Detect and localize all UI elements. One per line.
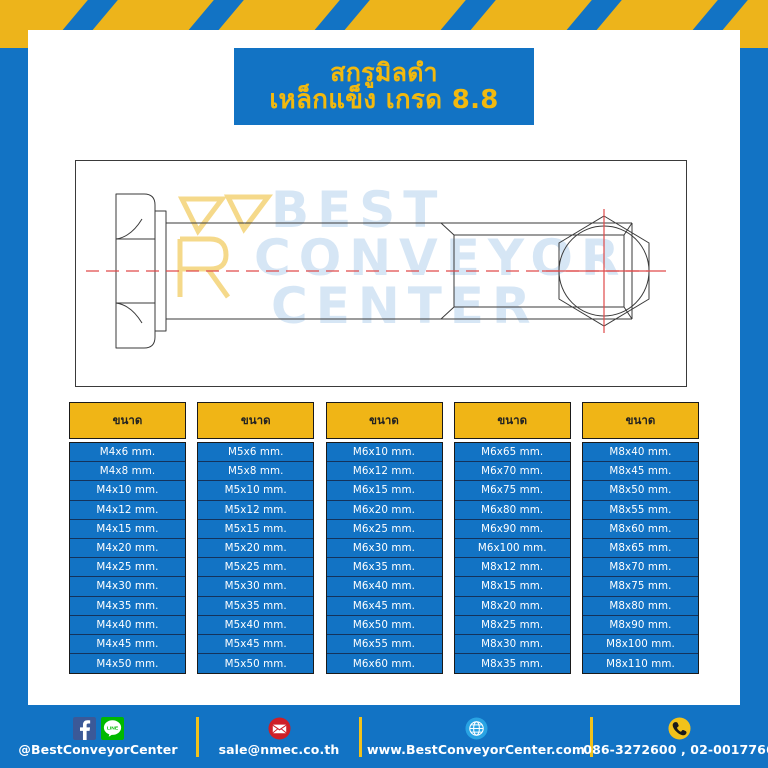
table-row[interactable]: M5x35 mm. — [198, 597, 313, 616]
footer-contact-bar: LINE @BestConveyorCenter sale@nmec.co.th — [0, 705, 768, 768]
table-row[interactable]: M5x50 mm. — [198, 654, 313, 673]
table-row[interactable]: M6x15 mm. — [327, 481, 442, 500]
table-row[interactable]: M8x45 mm. — [583, 462, 698, 481]
table-row[interactable]: M5x8 mm. — [198, 462, 313, 481]
column-body-3: M6x10 mm. M6x12 mm. M6x15 mm. M6x20 mm. … — [326, 442, 443, 674]
table-row[interactable]: M8x65 mm. — [583, 539, 698, 558]
table-row[interactable]: M8x75 mm. — [583, 577, 698, 596]
globe-icon-wrap — [465, 716, 488, 740]
phone-label: 086-3272600 , 02-0017766 — [583, 742, 768, 757]
email-label: sale@nmec.co.th — [219, 742, 340, 757]
table-row[interactable]: M4x15 mm. — [70, 520, 185, 539]
table-row[interactable]: M6x45 mm. — [327, 597, 442, 616]
table-row[interactable]: M5x45 mm. — [198, 635, 313, 654]
footer-social[interactable]: LINE @BestConveyorCenter — [0, 705, 196, 768]
table-row[interactable]: M6x90 mm. — [455, 520, 570, 539]
svg-text:LINE: LINE — [106, 725, 118, 731]
table-row[interactable]: M8x100 mm. — [583, 635, 698, 654]
table-row[interactable]: M6x75 mm. — [455, 481, 570, 500]
table-row[interactable]: M8x60 mm. — [583, 520, 698, 539]
facebook-icon[interactable] — [73, 717, 96, 740]
size-tables: ขนาด M4x6 mm. M4x8 mm. M4x10 mm. M4x12 m… — [69, 402, 699, 688]
table-row[interactable]: M6x100 mm. — [455, 539, 570, 558]
column-body-4: M6x65 mm. M6x70 mm. M6x75 mm. M6x80 mm. … — [454, 442, 571, 674]
column-header-1: ขนาด — [69, 402, 186, 439]
table-row[interactable]: M6x35 mm. — [327, 558, 442, 577]
table-row[interactable]: M4x25 mm. — [70, 558, 185, 577]
page-title-line1: สกรูมิลดำ — [330, 59, 438, 86]
table-row[interactable]: M6x65 mm. — [455, 443, 570, 462]
table-row[interactable]: M8x70 mm. — [583, 558, 698, 577]
social-label: @BestConveyorCenter — [18, 742, 177, 757]
globe-icon[interactable] — [465, 717, 488, 740]
table-row[interactable]: M8x30 mm. — [455, 635, 570, 654]
table-row[interactable]: M4x20 mm. — [70, 539, 185, 558]
size-column-1: ขนาด M4x6 mm. M4x8 mm. M4x10 mm. M4x12 m… — [69, 402, 186, 688]
table-row[interactable]: M6x20 mm. — [327, 501, 442, 520]
footer-email[interactable]: sale@nmec.co.th — [199, 705, 359, 768]
table-row[interactable]: M5x10 mm. — [198, 481, 313, 500]
table-row[interactable]: M6x25 mm. — [327, 520, 442, 539]
table-row[interactable]: M5x20 mm. — [198, 539, 313, 558]
phone-icon[interactable] — [668, 717, 691, 740]
table-row[interactable]: M6x70 mm. — [455, 462, 570, 481]
table-row[interactable]: M8x40 mm. — [583, 443, 698, 462]
table-row[interactable]: M5x12 mm. — [198, 501, 313, 520]
size-column-5: ขนาด M8x40 mm. M8x45 mm. M8x50 mm. M8x55… — [582, 402, 699, 688]
table-row[interactable]: M6x60 mm. — [327, 654, 442, 673]
table-row[interactable]: M4x40 mm. — [70, 616, 185, 635]
table-row[interactable]: M4x12 mm. — [70, 501, 185, 520]
table-row[interactable]: M8x90 mm. — [583, 616, 698, 635]
title-banner: สกรูมิลดำ เหล็กแข็ง เกรด 8.8 — [234, 48, 534, 125]
table-row[interactable]: M5x30 mm. — [198, 577, 313, 596]
table-row[interactable]: M5x25 mm. — [198, 558, 313, 577]
table-row[interactable]: M8x15 mm. — [455, 577, 570, 596]
content-sheet: สกรูมิลดำ เหล็กแข็ง เกรด 8.8 BEST CONVEY… — [28, 30, 740, 705]
table-row[interactable]: M6x10 mm. — [327, 443, 442, 462]
table-row[interactable]: M8x12 mm. — [455, 558, 570, 577]
table-row[interactable]: M5x40 mm. — [198, 616, 313, 635]
table-row[interactable]: M8x110 mm. — [583, 654, 698, 673]
hex-head-end-view — [524, 161, 684, 386]
table-row[interactable]: M8x25 mm. — [455, 616, 570, 635]
size-column-3: ขนาด M6x10 mm. M6x12 mm. M6x15 mm. M6x20… — [326, 402, 443, 688]
website-label: www.BestConveyorCenter.com — [367, 742, 585, 757]
page-title-line2: เหล็กแข็ง เกรด 8.8 — [269, 86, 498, 114]
column-body-1: M4x6 mm. M4x8 mm. M4x10 mm. M4x12 mm. M4… — [69, 442, 186, 674]
table-row[interactable]: M6x12 mm. — [327, 462, 442, 481]
poster-page: สกรูมิลดำ เหล็กแข็ง เกรด 8.8 BEST CONVEY… — [0, 0, 768, 768]
size-column-4: ขนาด M6x65 mm. M6x70 mm. M6x75 mm. M6x80… — [454, 402, 571, 688]
table-row[interactable]: M6x80 mm. — [455, 501, 570, 520]
table-row[interactable]: M6x30 mm. — [327, 539, 442, 558]
table-row[interactable]: M4x10 mm. — [70, 481, 185, 500]
table-row[interactable]: M5x6 mm. — [198, 443, 313, 462]
email-icon-wrap — [268, 716, 291, 740]
column-header-2: ขนาด — [197, 402, 314, 439]
footer-website[interactable]: www.BestConveyorCenter.com — [362, 705, 590, 768]
table-row[interactable]: M8x80 mm. — [583, 597, 698, 616]
table-row[interactable]: M4x45 mm. — [70, 635, 185, 654]
column-body-2: M5x6 mm. M5x8 mm. M5x10 mm. M5x12 mm. M5… — [197, 442, 314, 674]
table-row[interactable]: M4x6 mm. — [70, 443, 185, 462]
table-row[interactable]: M4x30 mm. — [70, 577, 185, 596]
table-row[interactable]: M4x35 mm. — [70, 597, 185, 616]
table-row[interactable]: M6x40 mm. — [327, 577, 442, 596]
table-row[interactable]: M4x50 mm. — [70, 654, 185, 673]
table-row[interactable]: M8x55 mm. — [583, 501, 698, 520]
email-icon[interactable] — [268, 717, 291, 740]
technical-drawing-frame: BEST CONVEYOR CENTER — [75, 160, 687, 387]
size-column-2: ขนาด M5x6 mm. M5x8 mm. M5x10 mm. M5x12 m… — [197, 402, 314, 688]
column-body-5: M8x40 mm. M8x45 mm. M8x50 mm. M8x55 mm. … — [582, 442, 699, 674]
table-row[interactable]: M8x20 mm. — [455, 597, 570, 616]
social-icons: LINE — [73, 716, 124, 740]
line-icon[interactable]: LINE — [101, 717, 124, 740]
column-header-4: ขนาด — [454, 402, 571, 439]
table-row[interactable]: M6x50 mm. — [327, 616, 442, 635]
table-row[interactable]: M6x55 mm. — [327, 635, 442, 654]
phone-icon-wrap — [668, 716, 691, 740]
column-header-5: ขนาด — [582, 402, 699, 439]
footer-phone[interactable]: 086-3272600 , 02-0017766 — [593, 705, 765, 768]
table-row[interactable]: M8x50 mm. — [583, 481, 698, 500]
table-row[interactable]: M4x8 mm. — [70, 462, 185, 481]
column-header-3: ขนาด — [326, 402, 443, 439]
table-row[interactable]: M5x15 mm. — [198, 520, 313, 539]
table-row[interactable]: M8x35 mm. — [455, 654, 570, 673]
